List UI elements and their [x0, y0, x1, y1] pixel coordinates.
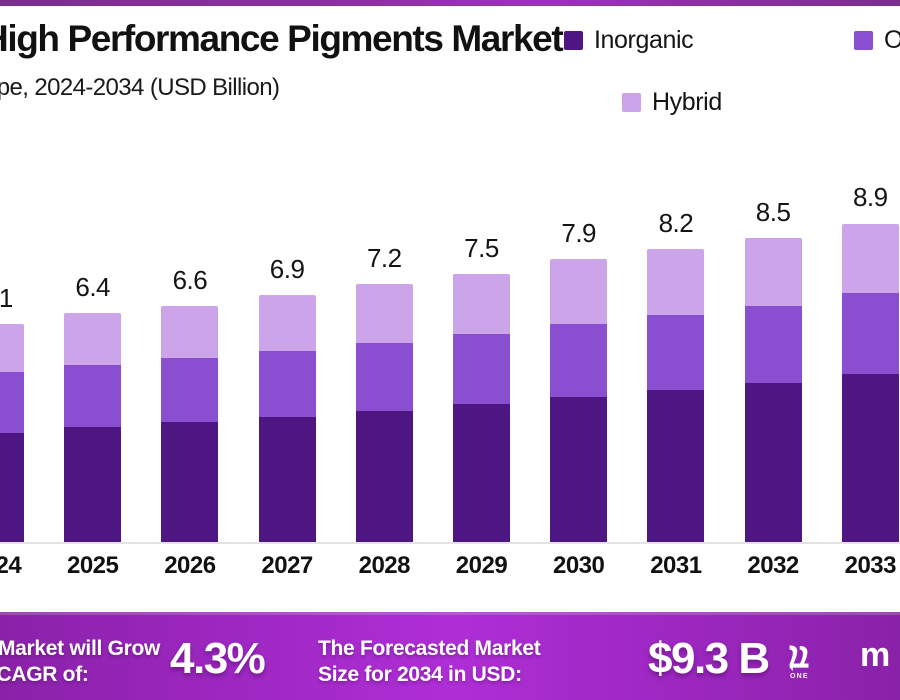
bar-segment-organic[interactable] — [550, 324, 607, 397]
bar-segment-organic[interactable] — [356, 343, 413, 411]
bar-segment-organic[interactable] — [453, 334, 510, 404]
legend-swatch-icon — [564, 31, 583, 50]
bar-segment-inorganic[interactable] — [745, 383, 802, 542]
x-axis-tick-labels: 2024202520262027202820292030203120322033 — [0, 552, 900, 594]
bar-segment-inorganic[interactable] — [647, 390, 704, 542]
brand-logo: ܐܐ ONE m — [788, 632, 900, 682]
chart-infographic: High Performance Pigments Market ope, 20… — [0, 0, 900, 700]
bar-value-label: 8.9 — [800, 182, 900, 213]
forecast-caption: The Forecasted Market Size for 2034 in U… — [318, 636, 540, 688]
stacked-bar[interactable] — [842, 223, 899, 542]
bar-segment-inorganic[interactable] — [550, 397, 607, 542]
page-title: High Performance Pigments Market — [0, 18, 562, 60]
bar-segment-hybrid[interactable] — [0, 324, 24, 372]
bar-segment-inorganic[interactable] — [0, 433, 24, 542]
stacked-bar[interactable] — [550, 259, 607, 542]
bar-segment-hybrid[interactable] — [550, 259, 607, 323]
legend-item-label: Hybrid — [652, 88, 722, 117]
bar-segment-inorganic[interactable] — [64, 427, 121, 542]
bar-segment-hybrid[interactable] — [161, 306, 218, 358]
stacked-bar[interactable] — [745, 238, 802, 542]
bar-segment-hybrid[interactable] — [259, 295, 316, 350]
bar-group[interactable]: 6.4 — [64, 132, 121, 542]
bar-segment-hybrid[interactable] — [745, 238, 802, 306]
page-subtitle: ope, 2024-2034 (USD Billion) — [0, 74, 279, 102]
cagr-value: 4.3% — [170, 634, 264, 684]
legend-swatch-icon — [622, 93, 641, 112]
forecast-value: $9.3 B — [648, 634, 769, 684]
bar-group[interactable]: 7.9 — [550, 132, 607, 542]
bar-segment-hybrid[interactable] — [356, 284, 413, 343]
stacked-bar[interactable] — [453, 274, 510, 542]
bar-segment-organic[interactable] — [647, 315, 704, 390]
bar-group[interactable]: 6.6 — [161, 132, 218, 542]
bar-segment-hybrid[interactable] — [453, 274, 510, 335]
stacked-bar[interactable] — [0, 324, 24, 542]
bar-segment-inorganic[interactable] — [842, 374, 899, 542]
legend-item-organic[interactable]: Organic — [854, 26, 900, 55]
x-axis-tick: 2033 — [810, 552, 900, 580]
stacked-bar[interactable] — [259, 295, 316, 542]
bar-segment-inorganic[interactable] — [356, 411, 413, 542]
stacked-bar[interactable] — [64, 313, 121, 542]
chart-legend: Inorganic Organic Hybrid — [540, 16, 900, 126]
bar-segment-organic[interactable] — [0, 372, 24, 433]
stacked-bar[interactable] — [647, 249, 704, 542]
legend-item-label: Inorganic — [594, 26, 693, 55]
bar-segment-inorganic[interactable] — [453, 404, 510, 542]
bar-segment-organic[interactable] — [64, 365, 121, 428]
banner-divider — [0, 612, 900, 615]
bar-group[interactable]: 7.2 — [356, 132, 413, 542]
bar-group[interactable]: 6.1 — [0, 132, 24, 542]
bar-segment-hybrid[interactable] — [647, 249, 704, 315]
legend-swatch-icon — [854, 31, 873, 50]
footer-banner: The Market will Grow at a CAGR of: 4.3% … — [0, 612, 900, 700]
bar-group[interactable]: 8.5 — [745, 132, 802, 542]
bar-group[interactable]: 7.5 — [453, 132, 510, 542]
bar-segment-organic[interactable] — [842, 293, 899, 374]
legend-item-inorganic[interactable]: Inorganic — [564, 26, 693, 55]
bar-segment-organic[interactable] — [161, 358, 218, 422]
logo-wordmark: m — [860, 636, 889, 675]
logo-mark-icon: ܐܐ — [788, 634, 809, 677]
plot-area: 6.16.46.66.97.27.57.98.28.58.9 — [0, 132, 900, 542]
bar-group[interactable]: 6.9 — [259, 132, 316, 542]
legend-item-label: Organic — [884, 26, 900, 55]
bar-segment-inorganic[interactable] — [161, 422, 218, 542]
legend-item-hybrid[interactable]: Hybrid — [622, 88, 722, 117]
x-axis-line — [0, 542, 900, 544]
bar-segment-inorganic[interactable] — [259, 417, 316, 542]
bar-segment-hybrid[interactable] — [64, 313, 121, 365]
bar-segment-organic[interactable] — [745, 306, 802, 383]
bar-segment-organic[interactable] — [259, 351, 316, 417]
bar-group[interactable]: 8.2 — [647, 132, 704, 542]
bar-group[interactable]: 8.9 — [842, 132, 899, 542]
cagr-caption: The Market will Grow at a CAGR of: — [0, 636, 160, 688]
stacked-bar[interactable] — [161, 306, 218, 542]
logo-subtext: ONE — [790, 673, 809, 680]
stacked-bar[interactable] — [356, 284, 413, 542]
bar-segment-hybrid[interactable] — [842, 224, 899, 294]
